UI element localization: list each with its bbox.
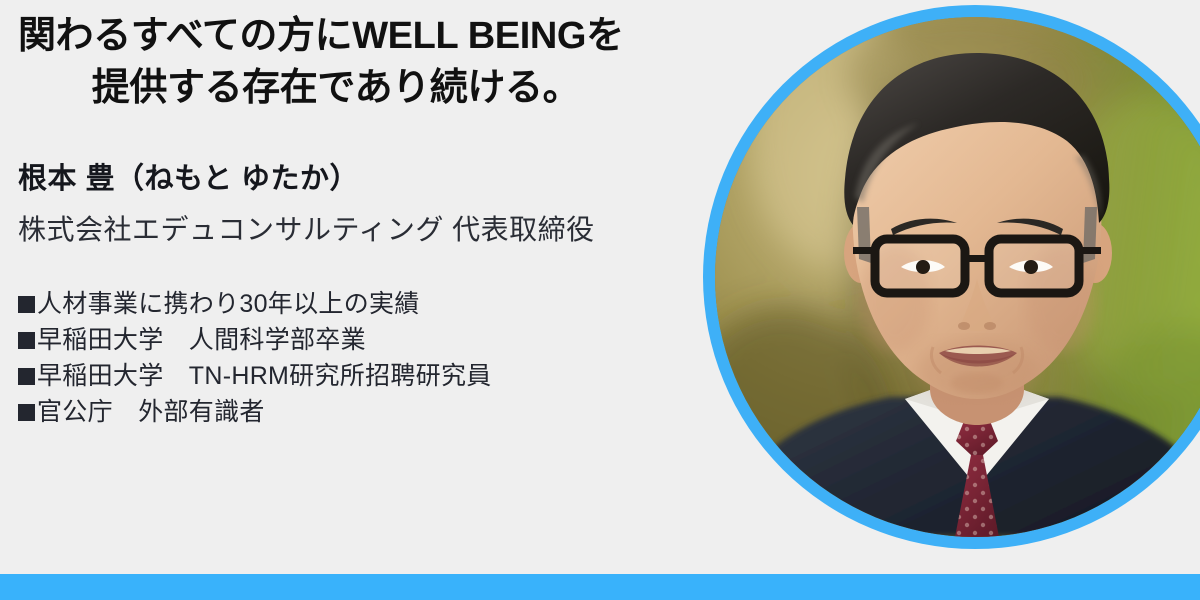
bottom-accent-bar bbox=[0, 574, 1200, 600]
list-item: 早稲田大学 TN-HRM研究所招聘研究員 bbox=[18, 358, 492, 394]
credential-text: 早稲田大学 人間科学部卒業 bbox=[37, 326, 366, 354]
square-bullet-icon bbox=[18, 332, 35, 349]
credential-text: 官公庁 外部有識者 bbox=[37, 398, 265, 426]
square-bullet-icon bbox=[18, 368, 35, 385]
page-title: 関わるすべての方にWELL BEINGを 提供する存在であり続ける。 bbox=[18, 10, 708, 115]
avatar bbox=[703, 5, 1200, 549]
portrait-photo bbox=[715, 17, 1200, 537]
list-item: 官公庁 外部有識者 bbox=[18, 394, 492, 430]
headline-line-1: 関わるすべての方にWELL BEINGを bbox=[18, 10, 708, 62]
person-role: 株式会社エデュコンサルティング 代表取締役 bbox=[18, 208, 595, 248]
list-item: 人材事業に携わり30年以上の実績 bbox=[18, 286, 492, 322]
credential-text: 早稲田大学 TN-HRM研究所招聘研究員 bbox=[37, 362, 492, 390]
headline-line-2: 提供する存在であり続ける。 bbox=[18, 62, 708, 114]
list-item: 早稲田大学 人間科学部卒業 bbox=[18, 322, 492, 358]
profile-slide: 関わるすべての方にWELL BEINGを 提供する存在であり続ける。 根本 豊（… bbox=[0, 0, 1200, 600]
square-bullet-icon bbox=[18, 404, 35, 421]
text-column: 関わるすべての方にWELL BEINGを 提供する存在であり続ける。 根本 豊（… bbox=[18, 0, 718, 560]
avatar-photo-clip bbox=[715, 17, 1200, 537]
credentials-list: 人材事業に携わり30年以上の実績 早稲田大学 人間科学部卒業 早稲田大学 TN-… bbox=[18, 286, 492, 430]
credential-text: 人材事業に携わり30年以上の実績 bbox=[37, 290, 420, 318]
square-bullet-icon bbox=[18, 296, 35, 313]
person-name: 根本 豊（ねもと ゆたか） bbox=[18, 155, 359, 197]
